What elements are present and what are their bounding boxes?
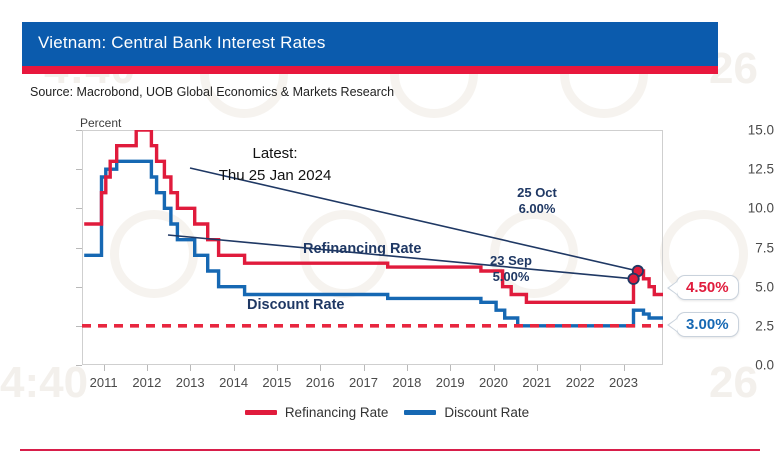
x-tick-mark — [320, 365, 321, 371]
callout-25-oct: 25 Oct 6.00% — [498, 185, 576, 218]
x-tick-label: 2012 — [132, 375, 161, 390]
callout-25-oct-date: 25 Oct — [517, 185, 557, 200]
x-tick-label: 2015 — [262, 375, 291, 390]
y-tick-label: 0.0 — [728, 358, 774, 373]
x-tick-label: 2019 — [436, 375, 465, 390]
x-tick-label: 2022 — [566, 375, 595, 390]
y-tick-label: 15.0 — [728, 123, 774, 138]
x-tick-mark — [537, 365, 538, 371]
x-tick-mark — [580, 365, 581, 371]
refinancing-inplot-label: Refinancing Rate — [303, 241, 421, 257]
y-tick-mark — [76, 365, 82, 366]
callout-23-sep-value: 5.00% — [493, 269, 530, 284]
chart-container: Percent 15.0 12.5 10.0 7.5 5.0 2.5 0.0 2… — [0, 105, 774, 435]
x-tick-mark — [147, 365, 148, 371]
x-tick-mark — [407, 365, 408, 371]
x-tick-label: 2023 — [609, 375, 638, 390]
x-tick-mark — [277, 365, 278, 371]
x-tick-label: 2018 — [392, 375, 421, 390]
y-axis-title: Percent — [80, 116, 121, 130]
refinancing-value-bubble: 4.50% — [676, 275, 739, 300]
x-tick-label: 2013 — [176, 375, 205, 390]
latest-date: Thu 25 Jan 2024 — [219, 167, 332, 184]
x-tick-mark — [364, 365, 365, 371]
header-accent-rule — [22, 66, 718, 74]
discount-value-bubble: 3.00% — [676, 312, 739, 337]
legend-label-refinancing: Refinancing Rate — [285, 405, 389, 420]
legend-item-refinancing: Refinancing Rate — [245, 405, 389, 420]
x-tick-mark — [234, 365, 235, 371]
x-tick-label: 2016 — [306, 375, 335, 390]
legend-swatch-refinancing — [245, 410, 277, 415]
discount-value-text: 3.00% — [686, 316, 729, 333]
y-tick-label: 7.5 — [728, 240, 774, 255]
legend-item-discount: Discount Rate — [404, 405, 529, 420]
x-tick-mark — [624, 365, 625, 371]
callout-23-sep: 23 Sep 5.00% — [472, 253, 550, 286]
legend-swatch-discount — [404, 410, 436, 415]
chart-legend: Refinancing Rate Discount Rate — [0, 405, 774, 420]
x-tick-label: 2021 — [522, 375, 551, 390]
x-tick-mark — [494, 365, 495, 371]
latest-annotation: Latest: Thu 25 Jan 2024 — [185, 143, 365, 187]
x-tick-mark — [450, 365, 451, 371]
x-tick-label: 2011 — [90, 375, 118, 390]
callout-23-sep-date: 23 Sep — [490, 253, 532, 268]
x-tick-mark — [104, 365, 105, 371]
header-bar: Vietnam: Central Bank Interest Rates — [22, 22, 718, 66]
x-tick-mark — [190, 365, 191, 371]
discount-inplot-label: Discount Rate — [247, 297, 345, 313]
refinancing-value-text: 4.50% — [686, 279, 729, 296]
legend-label-discount: Discount Rate — [444, 405, 529, 420]
source-note: Source: Macrobond, UOB Global Economics … — [30, 85, 394, 99]
callout-25-oct-value: 6.00% — [519, 201, 556, 216]
y-tick-label: 12.5 — [728, 162, 774, 177]
bottom-accent-rule — [20, 449, 760, 451]
x-tick-label: 2017 — [349, 375, 378, 390]
y-tick-label: 10.0 — [728, 201, 774, 216]
page-title: Vietnam: Central Bank Interest Rates — [38, 33, 326, 53]
x-tick-label: 2020 — [479, 375, 508, 390]
latest-label: Latest: — [252, 145, 297, 162]
x-tick-label: 2014 — [219, 375, 248, 390]
